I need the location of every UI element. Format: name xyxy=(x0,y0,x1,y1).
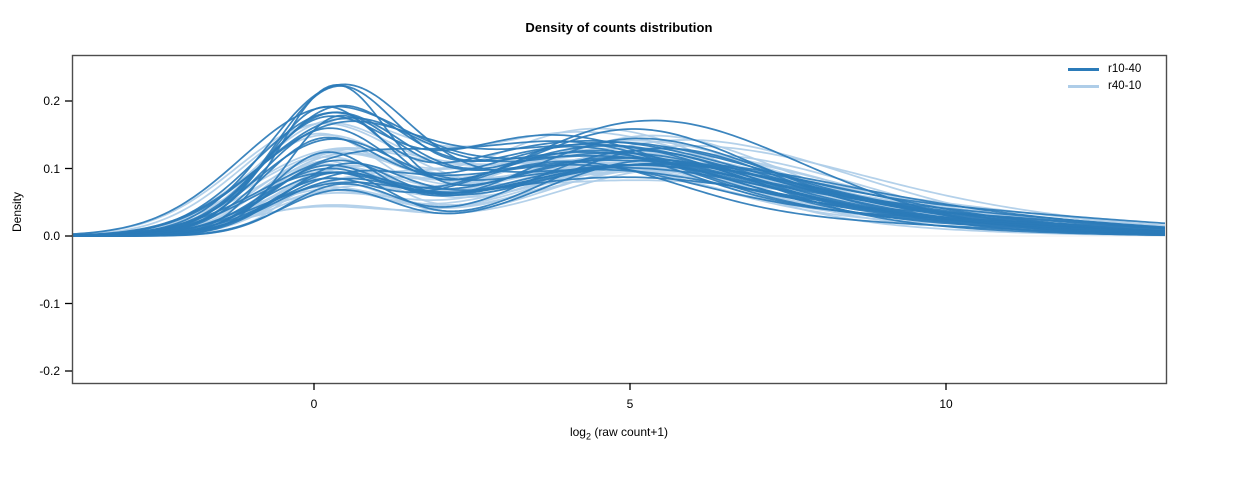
x-tick-label: 5 xyxy=(627,397,634,411)
legend-item-1[interactable]: r40-10 xyxy=(1068,78,1160,95)
x-axis-title-main: log xyxy=(570,425,586,439)
y-tick-label: 0.2 xyxy=(12,94,60,108)
legend-color-swatch xyxy=(1068,68,1099,71)
y-tick-label: -0.2 xyxy=(12,364,60,378)
x-tick-label: 10 xyxy=(939,397,952,411)
y-tick-label: -0.1 xyxy=(12,297,60,311)
legend-item-label: r10-40 xyxy=(1108,64,1141,76)
y-axis-title: Density xyxy=(10,162,24,262)
density-curves xyxy=(72,84,1166,236)
x-axis-title-rest: (raw count+1) xyxy=(591,425,668,439)
legend-item-0[interactable]: r10-40 xyxy=(1068,61,1160,78)
x-tick-label: 0 xyxy=(311,397,318,411)
legend-item-label: r40-10 xyxy=(1108,81,1141,93)
x-axis-title: log2 (raw count+1) xyxy=(0,425,1238,441)
legend-color-swatch xyxy=(1068,85,1099,88)
density-plot-figure: Density of counts distribution 0.20.10.0… xyxy=(0,0,1238,500)
legend: r10-40 r40-10 xyxy=(1062,57,1166,100)
